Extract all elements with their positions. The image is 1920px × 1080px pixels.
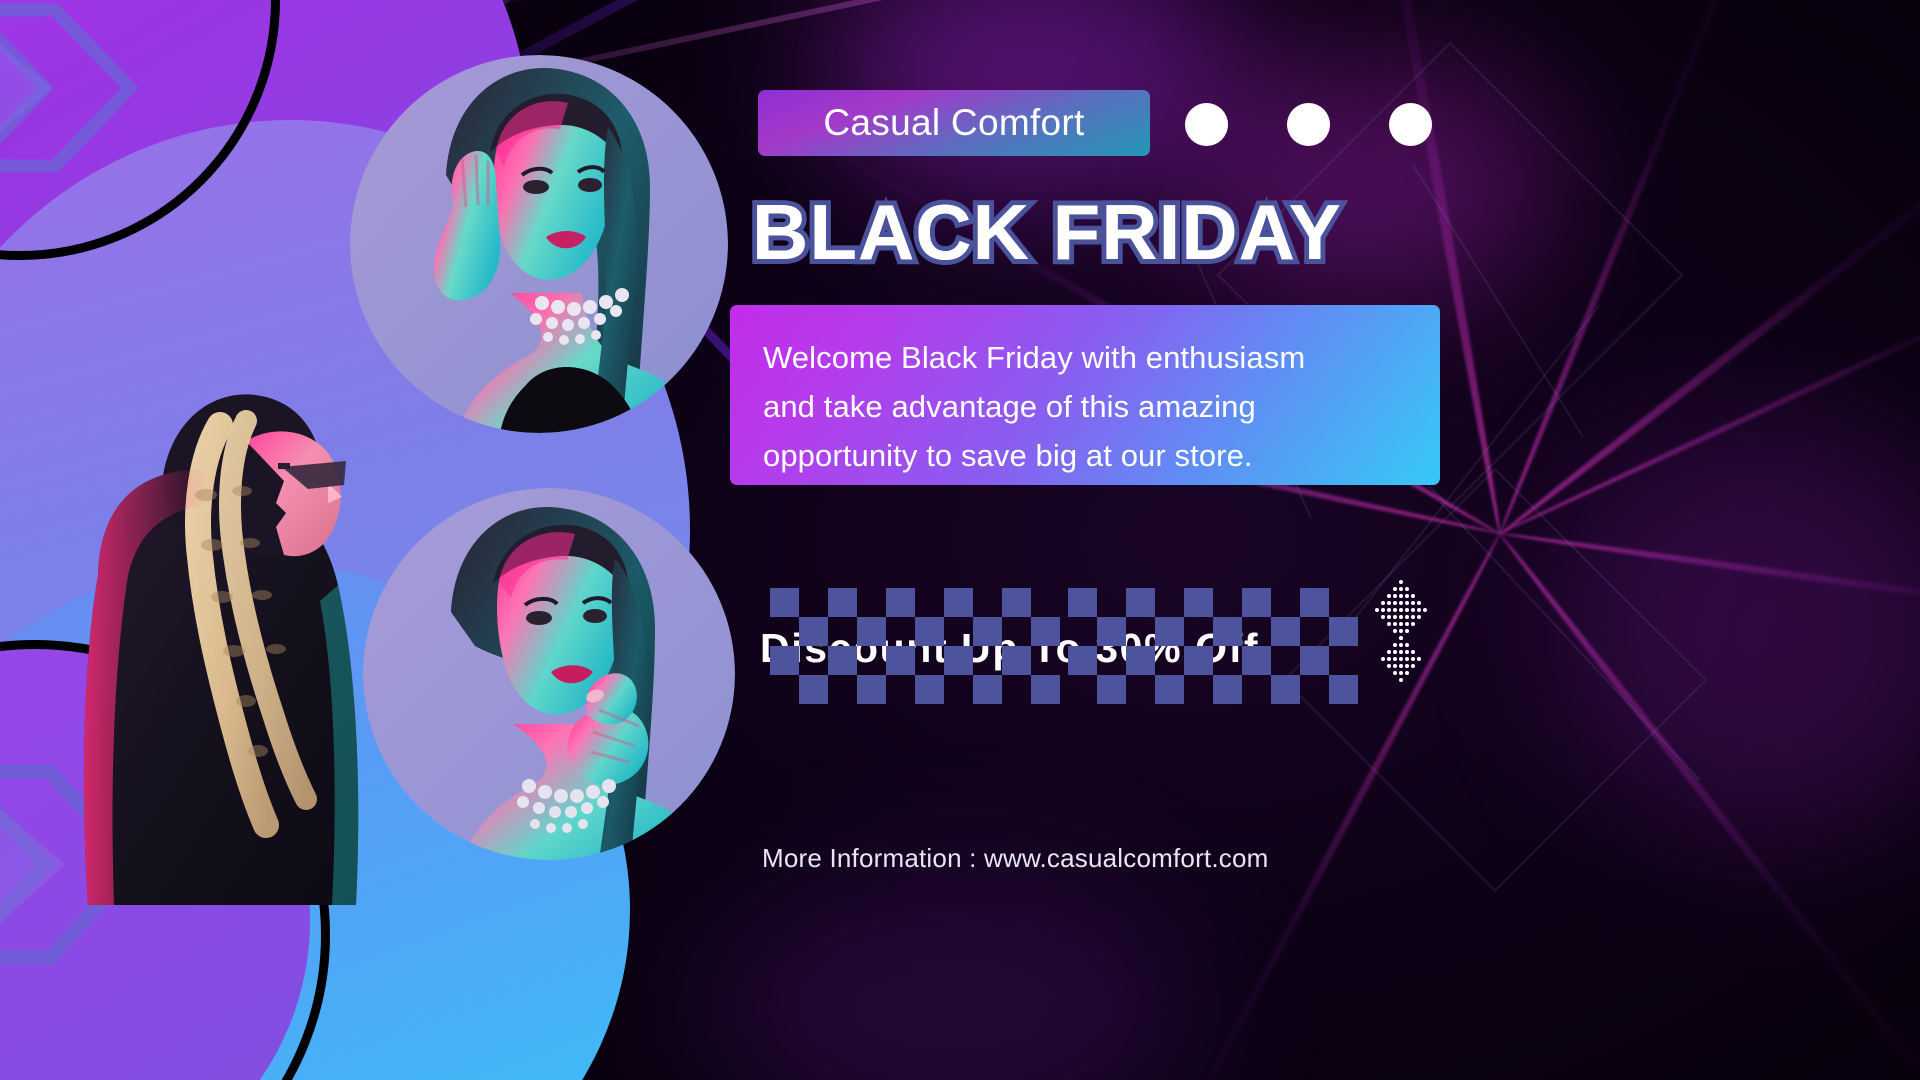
checker-square xyxy=(944,675,973,704)
checker-square xyxy=(857,646,886,675)
checker-square xyxy=(1242,675,1271,704)
checker-square xyxy=(1300,646,1329,675)
promo-line-1: Welcome Black Friday with enthusiasm xyxy=(763,333,1440,382)
checker-square xyxy=(1242,617,1271,646)
checker-square xyxy=(770,588,799,617)
checker-square xyxy=(1031,675,1060,704)
checker-square xyxy=(1329,588,1358,617)
checker-square xyxy=(973,646,1002,675)
checker-square xyxy=(1184,617,1213,646)
checker-square xyxy=(828,675,857,704)
checker-square xyxy=(1068,617,1097,646)
checker-square xyxy=(1097,588,1126,617)
checker-square xyxy=(799,588,828,617)
left-graphic-panel xyxy=(0,0,770,1080)
checker-square xyxy=(1031,588,1060,617)
checker-square xyxy=(973,588,1002,617)
checker-square xyxy=(886,617,915,646)
checker-row xyxy=(770,617,1060,646)
checker-square xyxy=(799,675,828,704)
more-information-text[interactable]: More Information : www.casualcomfort.com xyxy=(762,843,1269,874)
checker-block-1 xyxy=(770,588,1060,704)
checker-row xyxy=(1068,617,1358,646)
chevron-icon-top xyxy=(0,0,160,180)
checker-square xyxy=(1068,588,1097,617)
checker-square xyxy=(1031,617,1060,646)
checker-square xyxy=(799,617,828,646)
checker-square xyxy=(1002,675,1031,704)
model-braids-left xyxy=(70,245,410,905)
checker-row xyxy=(1068,588,1358,617)
decor-dot-1 xyxy=(1185,103,1228,146)
checker-square xyxy=(1213,588,1242,617)
checker-square xyxy=(1097,646,1126,675)
checker-square xyxy=(1300,617,1329,646)
checker-square xyxy=(857,675,886,704)
black-friday-banner: Casual Comfort BLACK FRIDAY BLACK FRIDAY… xyxy=(0,0,1920,1080)
checker-square xyxy=(886,646,915,675)
checker-square xyxy=(944,646,973,675)
checker-square xyxy=(944,588,973,617)
checker-square xyxy=(770,646,799,675)
checker-square xyxy=(915,588,944,617)
checker-square xyxy=(1002,617,1031,646)
checker-square xyxy=(1271,617,1300,646)
checker-square xyxy=(886,675,915,704)
checker-row xyxy=(1068,675,1358,704)
brand-badge[interactable]: Casual Comfort xyxy=(758,90,1150,156)
checker-square xyxy=(1329,646,1358,675)
checker-row xyxy=(1068,646,1358,675)
brand-badge-label: Casual Comfort xyxy=(823,102,1084,144)
checker-block-2 xyxy=(1068,588,1358,704)
checker-square xyxy=(973,617,1002,646)
checker-square xyxy=(1126,588,1155,617)
checker-square xyxy=(944,617,973,646)
headline-fill: BLACK FRIDAY xyxy=(752,186,1342,278)
checker-square xyxy=(915,675,944,704)
checker-square xyxy=(770,675,799,704)
checker-square xyxy=(799,646,828,675)
checker-square xyxy=(1126,675,1155,704)
checker-square xyxy=(973,675,1002,704)
checker-square xyxy=(857,617,886,646)
checker-square xyxy=(1213,646,1242,675)
checker-square xyxy=(1213,675,1242,704)
checker-square xyxy=(1068,646,1097,675)
checker-square xyxy=(1068,675,1097,704)
checker-square xyxy=(1155,617,1184,646)
checker-square xyxy=(1155,588,1184,617)
checker-square xyxy=(1155,675,1184,704)
decor-dot-2 xyxy=(1287,103,1330,146)
checker-square xyxy=(1126,617,1155,646)
checker-square xyxy=(1271,646,1300,675)
checker-square xyxy=(1184,588,1213,617)
checker-square xyxy=(1300,588,1329,617)
checker-square xyxy=(770,617,799,646)
checker-square xyxy=(1329,617,1358,646)
checker-square xyxy=(1242,588,1271,617)
model-top-circle xyxy=(350,55,728,433)
checker-square xyxy=(828,617,857,646)
checker-square xyxy=(915,617,944,646)
checker-square xyxy=(1271,588,1300,617)
checker-square xyxy=(1242,646,1271,675)
checker-square xyxy=(1184,646,1213,675)
checker-square xyxy=(1184,675,1213,704)
page-title: BLACK FRIDAY BLACK FRIDAY xyxy=(752,186,1452,278)
checker-row xyxy=(770,646,1060,675)
checker-square xyxy=(915,646,944,675)
checker-square xyxy=(828,588,857,617)
checker-square xyxy=(1097,675,1126,704)
checker-square xyxy=(886,588,915,617)
promo-paragraph-box: Welcome Black Friday with enthusiasm and… xyxy=(730,305,1440,485)
checker-square xyxy=(828,646,857,675)
dotted-diamond-icon xyxy=(1368,578,1434,694)
checker-square xyxy=(1271,675,1300,704)
promo-line-3: opportunity to save big at our store. xyxy=(763,431,1440,480)
checker-square xyxy=(1002,588,1031,617)
checker-square xyxy=(1300,675,1329,704)
checker-square xyxy=(1002,646,1031,675)
checker-square xyxy=(1031,646,1060,675)
checker-square xyxy=(1155,646,1184,675)
model-bottom-circle xyxy=(363,488,735,860)
promo-line-2: and take advantage of this amazing xyxy=(763,382,1440,431)
checker-row xyxy=(770,675,1060,704)
checker-row xyxy=(770,588,1060,617)
checker-square xyxy=(1329,675,1358,704)
checker-square xyxy=(1097,617,1126,646)
checker-square xyxy=(1126,646,1155,675)
checker-square xyxy=(1213,617,1242,646)
checker-square xyxy=(857,588,886,617)
decor-dot-3 xyxy=(1389,103,1432,146)
